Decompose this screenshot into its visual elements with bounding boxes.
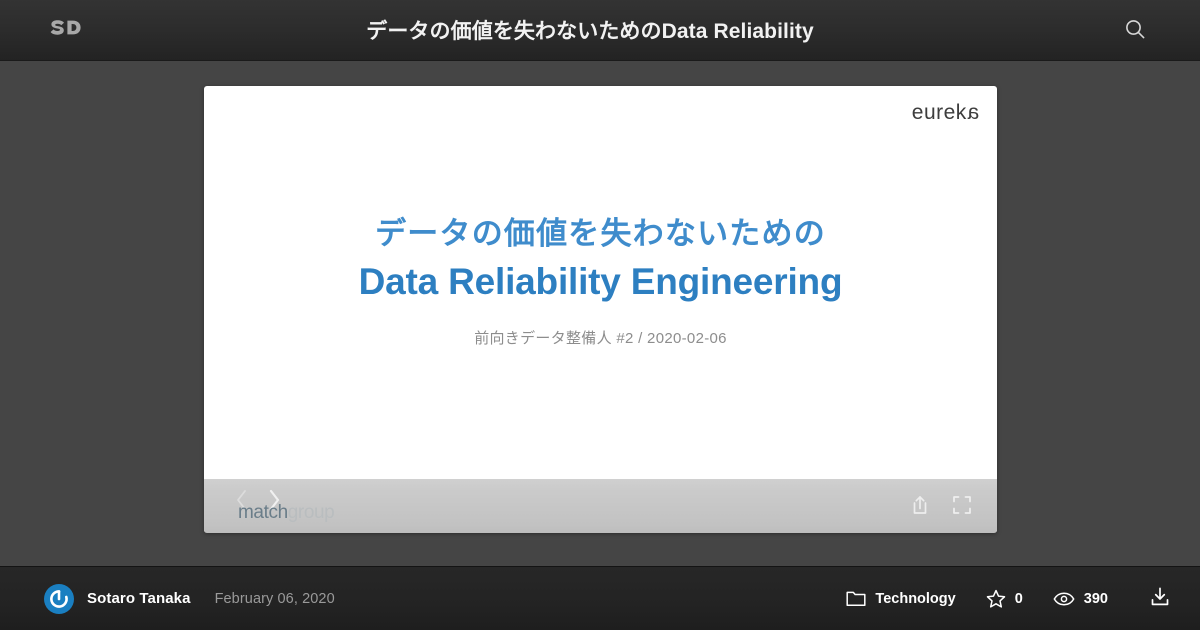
- search-icon: [1124, 18, 1146, 43]
- slide-title-english: Data Reliability Engineering: [359, 259, 843, 305]
- author-name[interactable]: Sotaro Tanaka: [87, 590, 191, 607]
- slide-content: データの価値を失わないための Data Reliability Engineer…: [204, 86, 997, 476]
- folder-icon: [846, 590, 866, 607]
- likes-counter[interactable]: 0: [986, 589, 1023, 609]
- views-counter: 390: [1053, 591, 1108, 607]
- slide-navigation: matchgroup: [222, 479, 392, 533]
- matchgroup-logo: matchgroup: [238, 502, 334, 524]
- views-count: 390: [1084, 591, 1108, 607]
- download-icon: [1148, 586, 1172, 611]
- download-button[interactable]: [1148, 586, 1172, 611]
- search-button[interactable]: [1118, 13, 1152, 47]
- star-icon: [986, 589, 1006, 609]
- search-slot: [1070, 13, 1200, 47]
- share-icon: [909, 494, 931, 519]
- category-label: Technology: [875, 591, 955, 607]
- fullscreen-button[interactable]: [949, 493, 975, 519]
- fullscreen-icon: [951, 494, 973, 519]
- avatar[interactable]: [44, 584, 74, 614]
- likes-count: 0: [1015, 591, 1023, 607]
- slide-player[interactable]: eureka データの価値を失わないための Data Reliability E…: [204, 86, 997, 533]
- matchgroup-logo-match: match: [238, 502, 288, 523]
- slide-title-japanese: データの価値を失わないための: [375, 214, 826, 254]
- eye-icon: [1053, 591, 1075, 607]
- player-actions: [907, 493, 979, 519]
- share-button[interactable]: [907, 493, 933, 519]
- matchgroup-logo-group: group: [288, 502, 335, 523]
- footer-meta: Technology 0 390: [846, 586, 1172, 611]
- publish-date: February 06, 2020: [215, 591, 335, 607]
- slideshare-logo-icon[interactable]: [45, 17, 85, 43]
- app-header: データの価値を失わないためのData Reliability: [0, 0, 1200, 61]
- page-title: データの価値を失わないためのData Reliability: [110, 15, 1070, 45]
- category-link[interactable]: Technology: [846, 590, 955, 607]
- slide-stage: eureka データの価値を失わないための Data Reliability E…: [0, 61, 1200, 566]
- slide-subtitle: 前向きデータ整備人 #2 / 2020-02-06: [474, 327, 727, 348]
- slide-canvas[interactable]: eureka データの価値を失わないための Data Reliability E…: [204, 86, 997, 532]
- player-control-bar: matchgroup: [204, 479, 997, 533]
- author-block[interactable]: Sotaro Tanaka: [44, 584, 191, 614]
- deck-footer: Sotaro Tanaka February 06, 2020 Technolo…: [0, 566, 1200, 630]
